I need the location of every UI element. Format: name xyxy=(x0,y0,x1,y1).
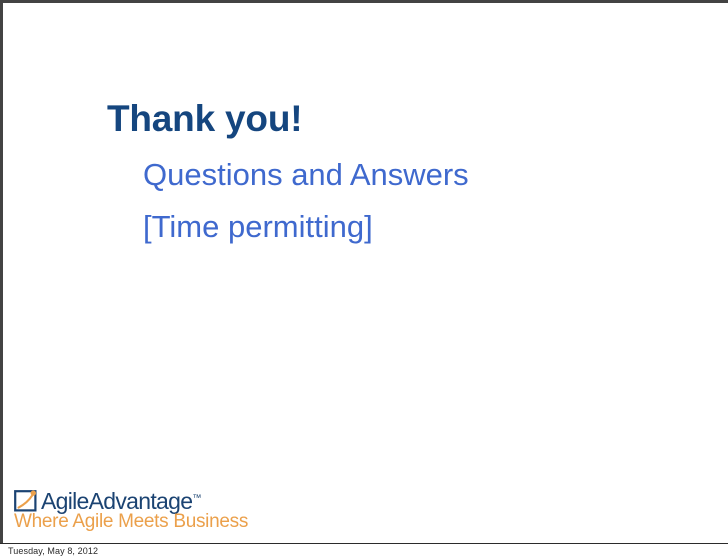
slide-canvas xyxy=(3,3,728,543)
slide-frame-top-border xyxy=(0,0,728,3)
slide-subline-time-permitting: [Time permitting] xyxy=(143,211,373,244)
slide-root: Thank you! Questions and Answers [Time p… xyxy=(0,0,728,560)
slide-subline-questions-and-answers: Questions and Answers xyxy=(143,159,469,192)
footer-date: Tuesday, May 8, 2012 xyxy=(8,546,98,556)
agile-advantage-arrow-mark-icon xyxy=(14,490,38,512)
slide-headline: Thank you! xyxy=(107,100,302,139)
agile-advantage-logo: AgileAdvantage™ Where Agile Meets Busine… xyxy=(14,487,234,539)
logo-wordmark: AgileAdvantage™ xyxy=(41,490,201,513)
logo-wordmark-text: AgileAdvantage xyxy=(41,488,192,514)
logo-tagline: Where Agile Meets Business xyxy=(14,512,248,531)
logo-trademark-symbol: ™ xyxy=(192,492,201,502)
slide-frame-left-border xyxy=(0,0,3,544)
footer-divider xyxy=(0,543,728,544)
